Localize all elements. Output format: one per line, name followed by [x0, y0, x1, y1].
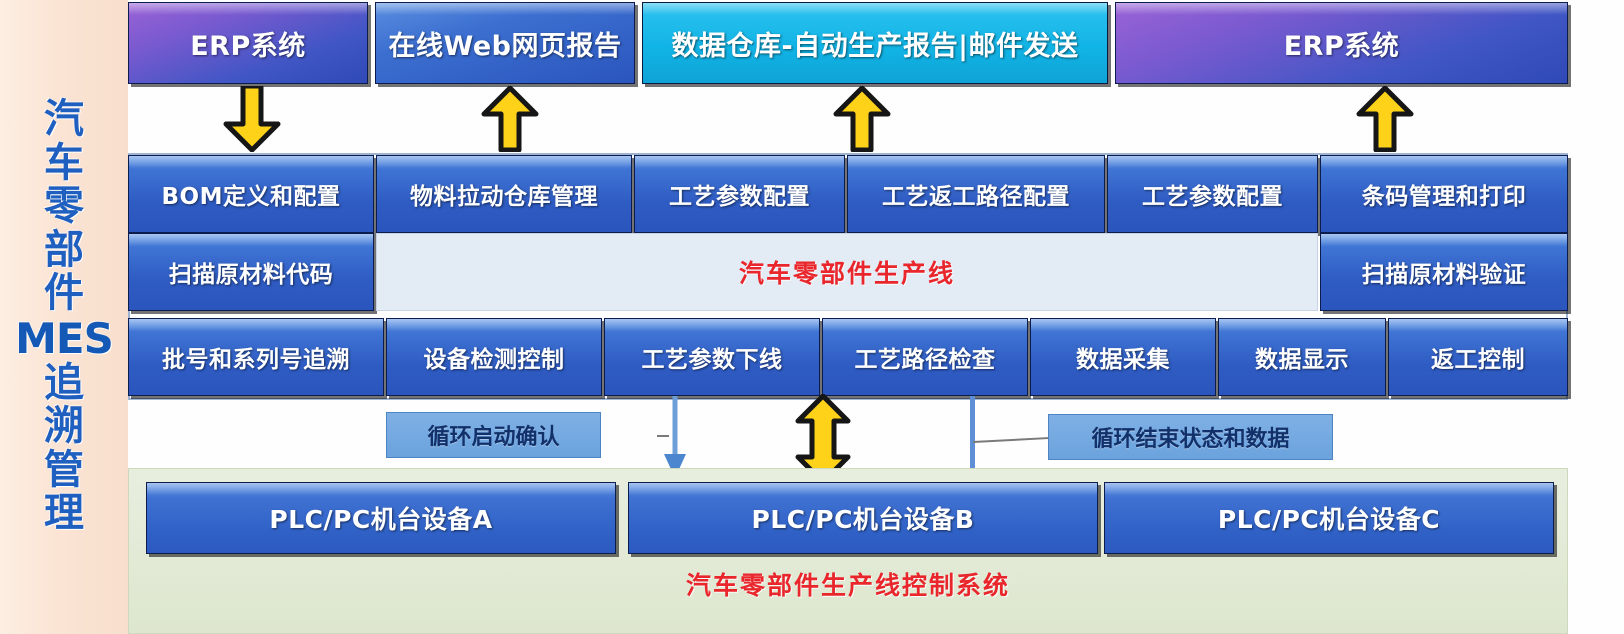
sidebar-title-text: 汽 车 零 部 件 MES 追 溯 管 理: [18, 99, 110, 535]
box-bevel: [605, 319, 819, 331]
sidebar-char-3: 部: [44, 230, 84, 272]
box-bevel: [1105, 483, 1553, 495]
box-bevel: [387, 319, 601, 331]
row1-box-process-param-config-2-label: 工艺参数配置: [1138, 177, 1287, 211]
box-bevel: [823, 319, 1027, 331]
plc-box-device-c[interactable]: PLC/PC机台设备C: [1104, 482, 1554, 554]
row2-box-scan-raw-material-code[interactable]: 扫描原材料代码: [128, 233, 374, 311]
arrow-up-material-to-web: [481, 86, 539, 152]
plc-box-device-c-label: PLC/PC机台设备C: [1214, 500, 1444, 536]
row3-box-lot-serial-trace[interactable]: 批号和系列号追溯: [128, 318, 384, 396]
box-bevel: [377, 156, 631, 168]
arrow-up-process-to-datawarehouse: [833, 86, 891, 152]
row1-box-process-param-config-label: 工艺参数配置: [665, 177, 814, 211]
row2-box-scan-raw-material-code-label: 扫描原材料代码: [165, 255, 338, 289]
row3-box-lot-serial-trace-label: 批号和系列号追溯: [158, 340, 354, 374]
row3-box-process-param-offline[interactable]: 工艺参数下线: [604, 318, 820, 396]
top-box-web-report[interactable]: 在线Web网页报告: [375, 2, 635, 84]
row1-box-bom-definition-label: BOM定义和配置: [158, 177, 345, 211]
sidebar-char-6: 追: [44, 363, 84, 405]
row3-box-data-display[interactable]: 数据显示: [1218, 318, 1386, 396]
plc-box-device-a[interactable]: PLC/PC机台设备A: [146, 482, 616, 554]
top-box-data-warehouse[interactable]: 数据仓库-自动生产报告|邮件发送: [642, 2, 1108, 84]
box-bevel: [1389, 319, 1567, 331]
row3-box-equipment-inspection-control-label: 设备检测控制: [420, 340, 569, 374]
row1-box-material-pull-warehouse[interactable]: 物料拉动仓库管理: [376, 155, 632, 233]
top-box-data-warehouse-label: 数据仓库-自动生产报告|邮件发送: [667, 24, 1082, 63]
sidebar-char-1: 车: [44, 143, 84, 185]
sidebar-char-4: 件: [44, 273, 84, 315]
row1-box-rework-path-config[interactable]: 工艺返工路径配置: [847, 155, 1105, 233]
box-bevel: [1219, 319, 1385, 331]
top-box-web-report-label: 在线Web网页报告: [385, 24, 626, 63]
arrow-up-barcode-to-erp: [1356, 86, 1414, 152]
top-box-erp-left[interactable]: ERP系统: [128, 2, 368, 84]
row3-box-equipment-inspection-control[interactable]: 设备检测控制: [386, 318, 602, 396]
diagram-canvas: ERP系统 在线Web网页报告 数据仓库-自动生产报告|邮件发送 ERP系统: [128, 0, 1624, 634]
row3-box-process-path-check[interactable]: 工艺路径检查: [822, 318, 1028, 396]
box-bevel: [635, 156, 844, 168]
row3-box-rework-control[interactable]: 返工控制: [1388, 318, 1568, 396]
sidebar-char-mes: MES: [15, 317, 113, 361]
production-line-strip-label: 汽车零部件生产线: [739, 254, 955, 290]
plc-box-device-a-label: PLC/PC机台设备A: [265, 500, 496, 536]
box-bevel: [129, 3, 367, 15]
box-bevel: [129, 319, 383, 331]
row3-box-data-display-label: 数据显示: [1251, 340, 1353, 374]
row1-box-process-param-config[interactable]: 工艺参数配置: [634, 155, 845, 233]
note-cycle-end-status-data-label: 循环结束状态和数据: [1091, 421, 1289, 453]
row3-box-process-param-offline-label: 工艺参数下线: [638, 340, 787, 374]
top-box-erp-right-label: ERP系统: [1280, 24, 1404, 63]
box-bevel: [1321, 234, 1567, 246]
hairline-right: [973, 437, 1053, 443]
row3-box-process-path-check-label: 工艺路径检查: [851, 340, 1000, 374]
box-bevel: [129, 156, 373, 168]
box-bevel: [147, 483, 615, 495]
row1-box-process-param-config-2[interactable]: 工艺参数配置: [1107, 155, 1318, 233]
box-bevel: [376, 3, 634, 15]
box-bevel: [1031, 319, 1215, 331]
row3-box-data-collection-label: 数据采集: [1072, 340, 1174, 374]
hairline-left: [657, 435, 669, 437]
row1-box-material-pull-warehouse-label: 物料拉动仓库管理: [406, 177, 602, 211]
row2-box-scan-raw-material-verify-label: 扫描原材料验证: [1358, 255, 1531, 289]
top-box-erp-right[interactable]: ERP系统: [1115, 2, 1568, 84]
note-cycle-start-confirm-label: 循环启动确认: [427, 419, 559, 451]
sidebar-title-band: 汽 车 零 部 件 MES 追 溯 管 理: [0, 0, 128, 634]
production-line-strip: 汽车零部件生产线: [376, 233, 1318, 311]
box-bevel: [129, 234, 373, 246]
box-bevel: [629, 483, 1097, 495]
row3-box-data-collection[interactable]: 数据采集: [1030, 318, 1216, 396]
plc-box-device-b-label: PLC/PC机台设备B: [748, 500, 979, 536]
box-bevel: [1116, 3, 1567, 15]
row1-box-barcode-management[interactable]: 条码管理和打印: [1320, 155, 1568, 233]
arrow-down-erp-to-bom: [223, 86, 281, 152]
row1-box-bom-definition[interactable]: BOM定义和配置: [128, 155, 374, 233]
box-bevel: [1108, 156, 1317, 168]
row1-box-rework-path-config-label: 工艺返工路径配置: [878, 177, 1074, 211]
row3-box-rework-control-label: 返工控制: [1427, 340, 1529, 374]
plc-box-device-b[interactable]: PLC/PC机台设备B: [628, 482, 1098, 554]
sidebar-char-9: 理: [44, 493, 84, 535]
note-cycle-end-status-data[interactable]: 循环结束状态和数据: [1048, 414, 1333, 460]
sidebar-char-2: 零: [44, 186, 84, 228]
sidebar-char-0: 汽: [44, 99, 84, 141]
sidebar-char-8: 管: [44, 450, 84, 492]
sidebar-char-7: 溯: [44, 406, 84, 448]
row2-box-scan-raw-material-verify[interactable]: 扫描原材料验证: [1320, 233, 1568, 311]
control-system-caption: 汽车零部件生产线控制系统: [128, 566, 1568, 602]
top-box-erp-left-label: ERP系统: [186, 24, 310, 63]
row1-box-barcode-management-label: 条码管理和打印: [1358, 177, 1531, 211]
box-bevel: [643, 3, 1107, 15]
note-cycle-start-confirm[interactable]: 循环启动确认: [386, 412, 601, 458]
diagram-root: 汽 车 零 部 件 MES 追 溯 管 理 ERP系统 在线Web网页报告: [0, 0, 1624, 634]
box-bevel: [1321, 156, 1567, 168]
box-bevel: [848, 156, 1104, 168]
